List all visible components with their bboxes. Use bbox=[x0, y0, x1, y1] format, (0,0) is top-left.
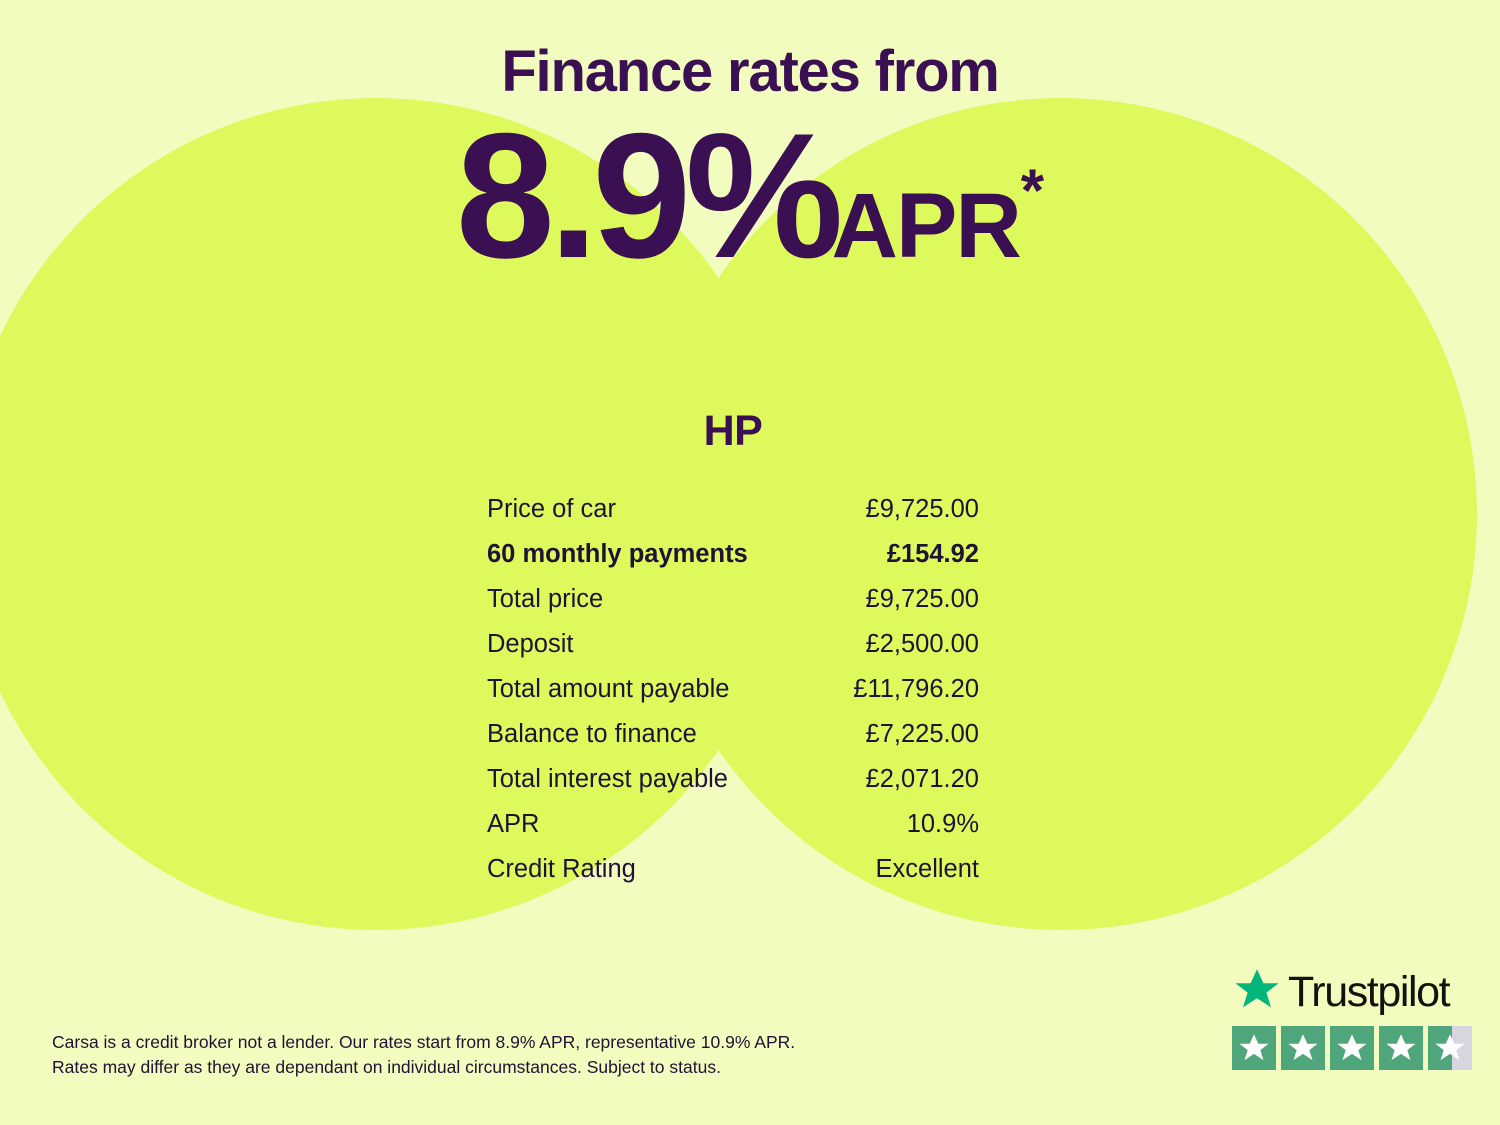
trustpilot-rating-stars bbox=[1232, 1026, 1472, 1070]
rating-star bbox=[1428, 1026, 1472, 1070]
table-row: Credit RatingExcellent bbox=[487, 847, 979, 892]
rating-star bbox=[1232, 1026, 1276, 1070]
finance-panel: HP Price of car£9,725.0060 monthly payme… bbox=[487, 410, 979, 892]
page-title: Finance rates from bbox=[0, 0, 1500, 101]
row-value: Excellent bbox=[819, 847, 979, 892]
hero-rate-asterisk: * bbox=[1021, 157, 1044, 224]
row-value: 10.9% bbox=[819, 802, 979, 847]
table-row: 60 monthly payments£154.92 bbox=[487, 532, 979, 577]
row-value: £154.92 bbox=[819, 532, 979, 577]
rating-star bbox=[1330, 1026, 1374, 1070]
rating-star bbox=[1379, 1026, 1423, 1070]
row-value: £2,500.00 bbox=[819, 622, 979, 667]
row-label: Total price bbox=[487, 577, 819, 622]
table-row: Price of car£9,725.00 bbox=[487, 487, 979, 532]
row-label: Balance to finance bbox=[487, 712, 819, 757]
table-row: Total price£9,725.00 bbox=[487, 577, 979, 622]
disclaimer-line-1: Carsa is a credit broker not a lender. O… bbox=[52, 1030, 852, 1055]
row-label: Price of car bbox=[487, 487, 819, 532]
hero-rate-value: 8.9% bbox=[456, 96, 838, 295]
trustpilot-widget[interactable]: Trustpilot bbox=[1232, 966, 1472, 1070]
row-label: 60 monthly payments bbox=[487, 532, 819, 577]
row-label: Total interest payable bbox=[487, 757, 819, 802]
disclaimer: Carsa is a credit broker not a lender. O… bbox=[52, 1030, 852, 1080]
finance-type-heading: HP bbox=[487, 410, 979, 453]
table-row: Deposit£2,500.00 bbox=[487, 622, 979, 667]
row-label: Total amount payable bbox=[487, 667, 819, 712]
trustpilot-wordmark: Trustpilot bbox=[1288, 971, 1449, 1014]
table-row: Total interest payable£2,071.20 bbox=[487, 757, 979, 802]
row-value: £11,796.20 bbox=[819, 667, 979, 712]
row-value: £9,725.00 bbox=[819, 577, 979, 622]
table-row: Total amount payable£11,796.20 bbox=[487, 667, 979, 712]
rating-star bbox=[1281, 1026, 1325, 1070]
hero-rate: 8.9%APR* bbox=[0, 107, 1500, 285]
row-value: £2,071.20 bbox=[819, 757, 979, 802]
trustpilot-star-icon bbox=[1232, 966, 1282, 1019]
row-value: £7,225.00 bbox=[819, 712, 979, 757]
disclaimer-line-2: Rates may differ as they are dependant o… bbox=[52, 1055, 852, 1080]
row-label: Deposit bbox=[487, 622, 819, 667]
headline-block: Finance rates from 8.9%APR* bbox=[0, 0, 1500, 285]
table-row: Balance to finance£7,225.00 bbox=[487, 712, 979, 757]
promo-banner: Finance rates from 8.9%APR* HP Price of … bbox=[0, 0, 1500, 1125]
trustpilot-brand: Trustpilot bbox=[1232, 966, 1472, 1018]
row-label: APR bbox=[487, 802, 819, 847]
table-row: APR10.9% bbox=[487, 802, 979, 847]
row-label: Credit Rating bbox=[487, 847, 819, 892]
finance-table: Price of car£9,725.0060 monthly payments… bbox=[487, 487, 979, 892]
row-value: £9,725.00 bbox=[819, 487, 979, 532]
hero-rate-unit: APR bbox=[832, 175, 1020, 277]
